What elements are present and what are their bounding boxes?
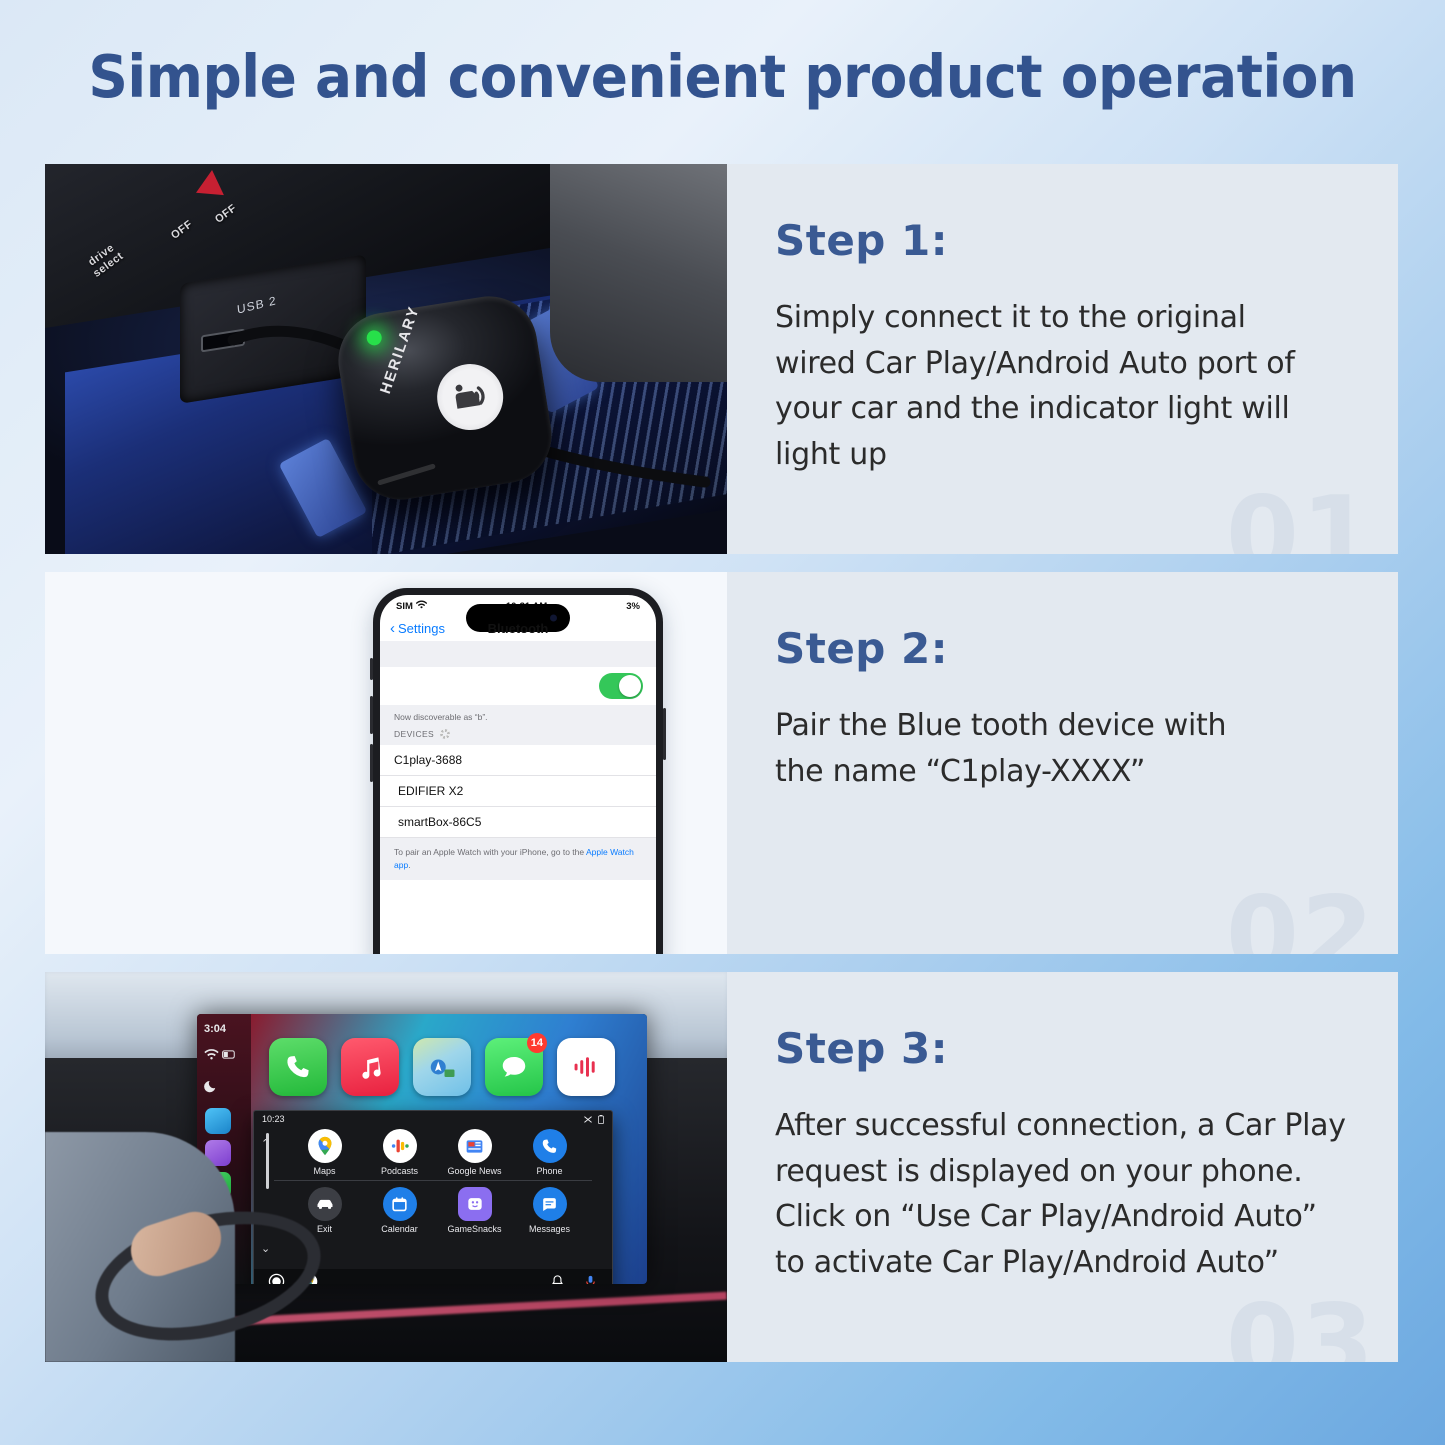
carrier-label: SIM — [396, 601, 413, 612]
apple-watch-footnote: To pair an Apple Watch with your iPhone,… — [380, 838, 656, 880]
back-to-settings-link[interactable]: Settings — [398, 621, 445, 636]
section-spacer — [380, 641, 656, 667]
maps-icon — [427, 1052, 457, 1082]
app-label: Calendar — [363, 1224, 436, 1234]
step-3-text-panel: Step 3: After successful connection, a C… — [727, 972, 1398, 1362]
audio-waveform-icon — [570, 1053, 602, 1081]
phone-icon — [533, 1129, 567, 1163]
devices-header-label: DEVICES — [394, 729, 434, 739]
battery-icon — [598, 1115, 604, 1124]
step-2-heading: Step 2: — [775, 624, 1358, 673]
carplay-wifi-icon — [204, 1047, 219, 1062]
carplay-app-phone[interactable] — [269, 1038, 327, 1096]
car-seat — [550, 164, 727, 382]
android-auto-statusbar: 10:23 — [254, 1111, 612, 1127]
maps-icon — [308, 1129, 342, 1163]
carplay-app-maps[interactable] — [413, 1038, 471, 1096]
messages-badge: 14 — [527, 1033, 547, 1053]
brand-label: HERILARY — [377, 303, 423, 396]
app-label: Podcasts — [363, 1166, 436, 1176]
android-auto-app-gamesnacks[interactable]: GameSnacks — [438, 1187, 511, 1234]
step-1-watermark: 01 — [1226, 483, 1376, 554]
step-row-3: 3:04 — [45, 972, 1398, 1362]
device-row-2[interactable]: EDIFIER X2 — [380, 776, 656, 807]
back-chevron-icon[interactable]: ‹ — [390, 621, 395, 636]
calendar-icon — [383, 1187, 417, 1221]
step-1-text-panel: Step 1: Simply connect it to the origina… — [727, 164, 1398, 554]
podcasts-icon — [383, 1129, 417, 1163]
android-auto-app-podcasts[interactable]: Podcasts — [363, 1129, 436, 1176]
android-auto-app-messages[interactable]: Messages — [513, 1187, 586, 1234]
car-console-photo: drive select OFF OFF USB 2 HERILARY — [45, 164, 727, 554]
android-auto-row-1: Maps — [254, 1127, 612, 1176]
carplay-app-row: 14 — [251, 1014, 647, 1096]
discoverable-note: Now discoverable as “b”. — [380, 705, 656, 727]
phone-icon — [283, 1052, 313, 1082]
step-1-body: Simply connect it to the original wired … — [775, 295, 1358, 477]
car-cabin-photo: 3:04 — [45, 972, 727, 1362]
battery-percent: 3% — [626, 601, 640, 612]
settings-navbar: ‹ Settings Bluetooth — [380, 615, 656, 641]
mic-icon[interactable] — [583, 1274, 598, 1284]
carplay-dongle: HERILARY — [332, 290, 559, 507]
phone-volume-down-button[interactable] — [370, 744, 373, 782]
dongle-seam — [377, 463, 436, 485]
hazard-triangle-icon — [196, 169, 226, 195]
row-divider — [274, 1180, 592, 1181]
step-3-watermark: 03 — [1226, 1291, 1376, 1362]
carplay-app-music[interactable] — [341, 1038, 399, 1096]
step-2-body: Pair the Blue tooth device with the name… — [775, 703, 1358, 794]
phone-mute-button[interactable] — [370, 658, 373, 680]
step-3-media-car-display: 3:04 — [45, 972, 727, 1362]
loading-spinner-icon — [440, 729, 450, 739]
step-3-body: After successful connection, a Car Play … — [775, 1103, 1358, 1285]
carplay-battery-icon — [222, 1047, 237, 1062]
step-1-heading: Step 1: — [775, 216, 1358, 265]
music-note-icon — [357, 1054, 384, 1081]
wifi-status-icon — [416, 600, 427, 612]
carplay-sidebar-app-1[interactable] — [205, 1108, 231, 1134]
app-label: Google News — [438, 1166, 511, 1176]
iphone-mockup: SIM 10:31 AM 3% — [373, 588, 663, 954]
steps-list: drive select OFF OFF USB 2 HERILARY — [45, 164, 1398, 1380]
android-auto-app-calendar[interactable]: Calendar — [363, 1187, 436, 1234]
messages-icon — [533, 1187, 567, 1221]
bell-icon[interactable] — [550, 1274, 565, 1284]
carplay-moon-icon — [204, 1078, 219, 1093]
android-auto-row-2: Exit — [254, 1185, 612, 1234]
step-row-2: SIM 10:31 AM 3% — [45, 572, 1398, 954]
carplay-app-messages[interactable]: 14 — [485, 1038, 543, 1096]
app-label: GameSnacks — [438, 1224, 511, 1234]
app-label: Maps — [288, 1166, 361, 1176]
phone-power-button[interactable] — [663, 708, 666, 760]
android-auto-app-phone[interactable]: Phone — [513, 1129, 586, 1176]
footnote-tail: . — [408, 860, 410, 870]
bluetooth-toggle-row[interactable] — [380, 667, 656, 705]
carplay-time: 3:04 — [204, 1023, 251, 1035]
phone-screen: SIM 10:31 AM 3% — [380, 595, 656, 954]
step-2-media-phone: SIM 10:31 AM 3% — [45, 572, 727, 954]
step-2-text-panel: Step 2: Pair the Blue tooth device with … — [727, 572, 1398, 954]
step-row-1: drive select OFF OFF USB 2 HERILARY — [45, 164, 1398, 554]
step-1-media-car-console: drive select OFF OFF USB 2 HERILARY — [45, 164, 727, 554]
app-label: Phone — [513, 1166, 586, 1176]
page-title: Simple and convenient product operation — [51, 42, 1395, 111]
device-row-1[interactable]: C1play-3688 — [380, 745, 656, 776]
scrollbar[interactable] — [266, 1133, 269, 1189]
toggle-knob — [619, 675, 641, 697]
google-news-icon — [458, 1129, 492, 1163]
bluetooth-off-icon — [583, 1115, 593, 1124]
messages-bubble-icon — [499, 1052, 529, 1082]
gamesnacks-icon — [458, 1187, 492, 1221]
android-auto-time: 10:23 — [262, 1114, 285, 1124]
bluetooth-toggle[interactable] — [599, 673, 643, 699]
android-auto-app-google-news[interactable]: Google News — [438, 1129, 511, 1176]
device-row-3[interactable]: smartBox-86C5 — [380, 807, 656, 838]
android-auto-app-maps[interactable]: Maps — [288, 1129, 361, 1176]
carplay-app-podcasts[interactable] — [557, 1038, 615, 1096]
devices-section-header: DEVICES — [380, 727, 656, 745]
phone-volume-up-button[interactable] — [370, 696, 373, 734]
indicator-led — [366, 329, 383, 346]
page-title-bluetooth: Bluetooth — [488, 621, 549, 636]
step-3-heading: Step 3: — [775, 1024, 1358, 1073]
car-exit-icon — [308, 1187, 342, 1221]
footnote-text: To pair an Apple Watch with your iPhone,… — [394, 847, 586, 857]
wireless-car-logo-icon — [432, 359, 508, 435]
step-2-watermark: 02 — [1226, 883, 1376, 954]
app-label: Messages — [513, 1224, 586, 1234]
